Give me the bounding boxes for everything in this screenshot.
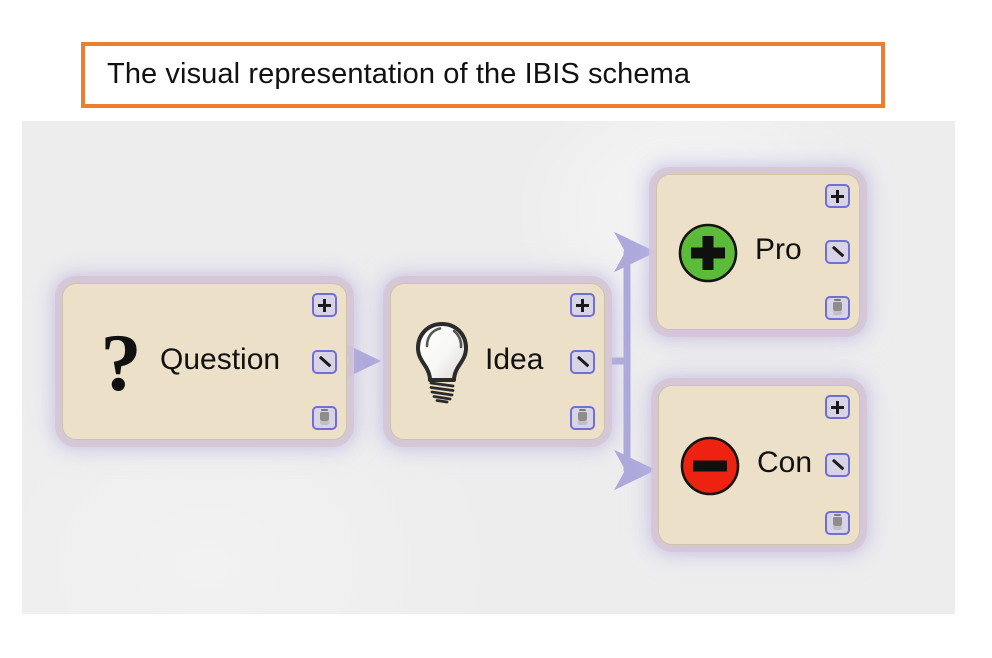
node-pro[interactable]: Pro [656, 174, 860, 330]
node-label-idea: Idea [485, 343, 543, 377]
green-plus-circle-icon [677, 222, 739, 284]
node-label-question: Question [160, 343, 280, 377]
node-label-pro: Pro [755, 233, 802, 267]
pencil-icon-button[interactable] [825, 453, 850, 477]
pencil-icon-button[interactable] [570, 350, 595, 374]
title-banner: The visual representation of the IBIS sc… [81, 42, 885, 108]
node-action-stack [825, 395, 850, 535]
node-label-con: Con [757, 446, 812, 480]
red-minus-circle-icon [679, 435, 741, 497]
page-title: The visual representation of the IBIS sc… [85, 59, 690, 91]
node-con[interactable]: Con [658, 385, 860, 545]
edge-idea-to-pro-con [611, 252, 649, 470]
node-question[interactable]: ? Question [62, 283, 347, 440]
node-action-stack [570, 293, 595, 430]
pencil-icon-button[interactable] [825, 240, 850, 264]
trash-icon [320, 412, 329, 425]
trash-icon-button[interactable] [570, 406, 595, 430]
trash-icon-button[interactable] [312, 406, 337, 430]
lightbulb-icon [413, 320, 471, 406]
node-idea[interactable]: Idea [390, 283, 605, 440]
plus-icon-button[interactable] [312, 293, 337, 317]
plus-icon-button[interactable] [825, 184, 850, 208]
node-action-stack [825, 184, 850, 320]
diagram-canvas: ? Question [22, 121, 955, 614]
node-action-stack [312, 293, 337, 430]
plus-icon-button[interactable] [825, 395, 850, 419]
plus-icon-button[interactable] [570, 293, 595, 317]
question-mark-icon: ? [97, 322, 145, 404]
pencil-icon-button[interactable] [312, 350, 337, 374]
trash-icon-button[interactable] [825, 296, 850, 320]
trash-icon-button[interactable] [825, 511, 850, 535]
trash-icon [833, 302, 842, 315]
trash-icon [833, 517, 842, 530]
trash-icon [578, 412, 587, 425]
